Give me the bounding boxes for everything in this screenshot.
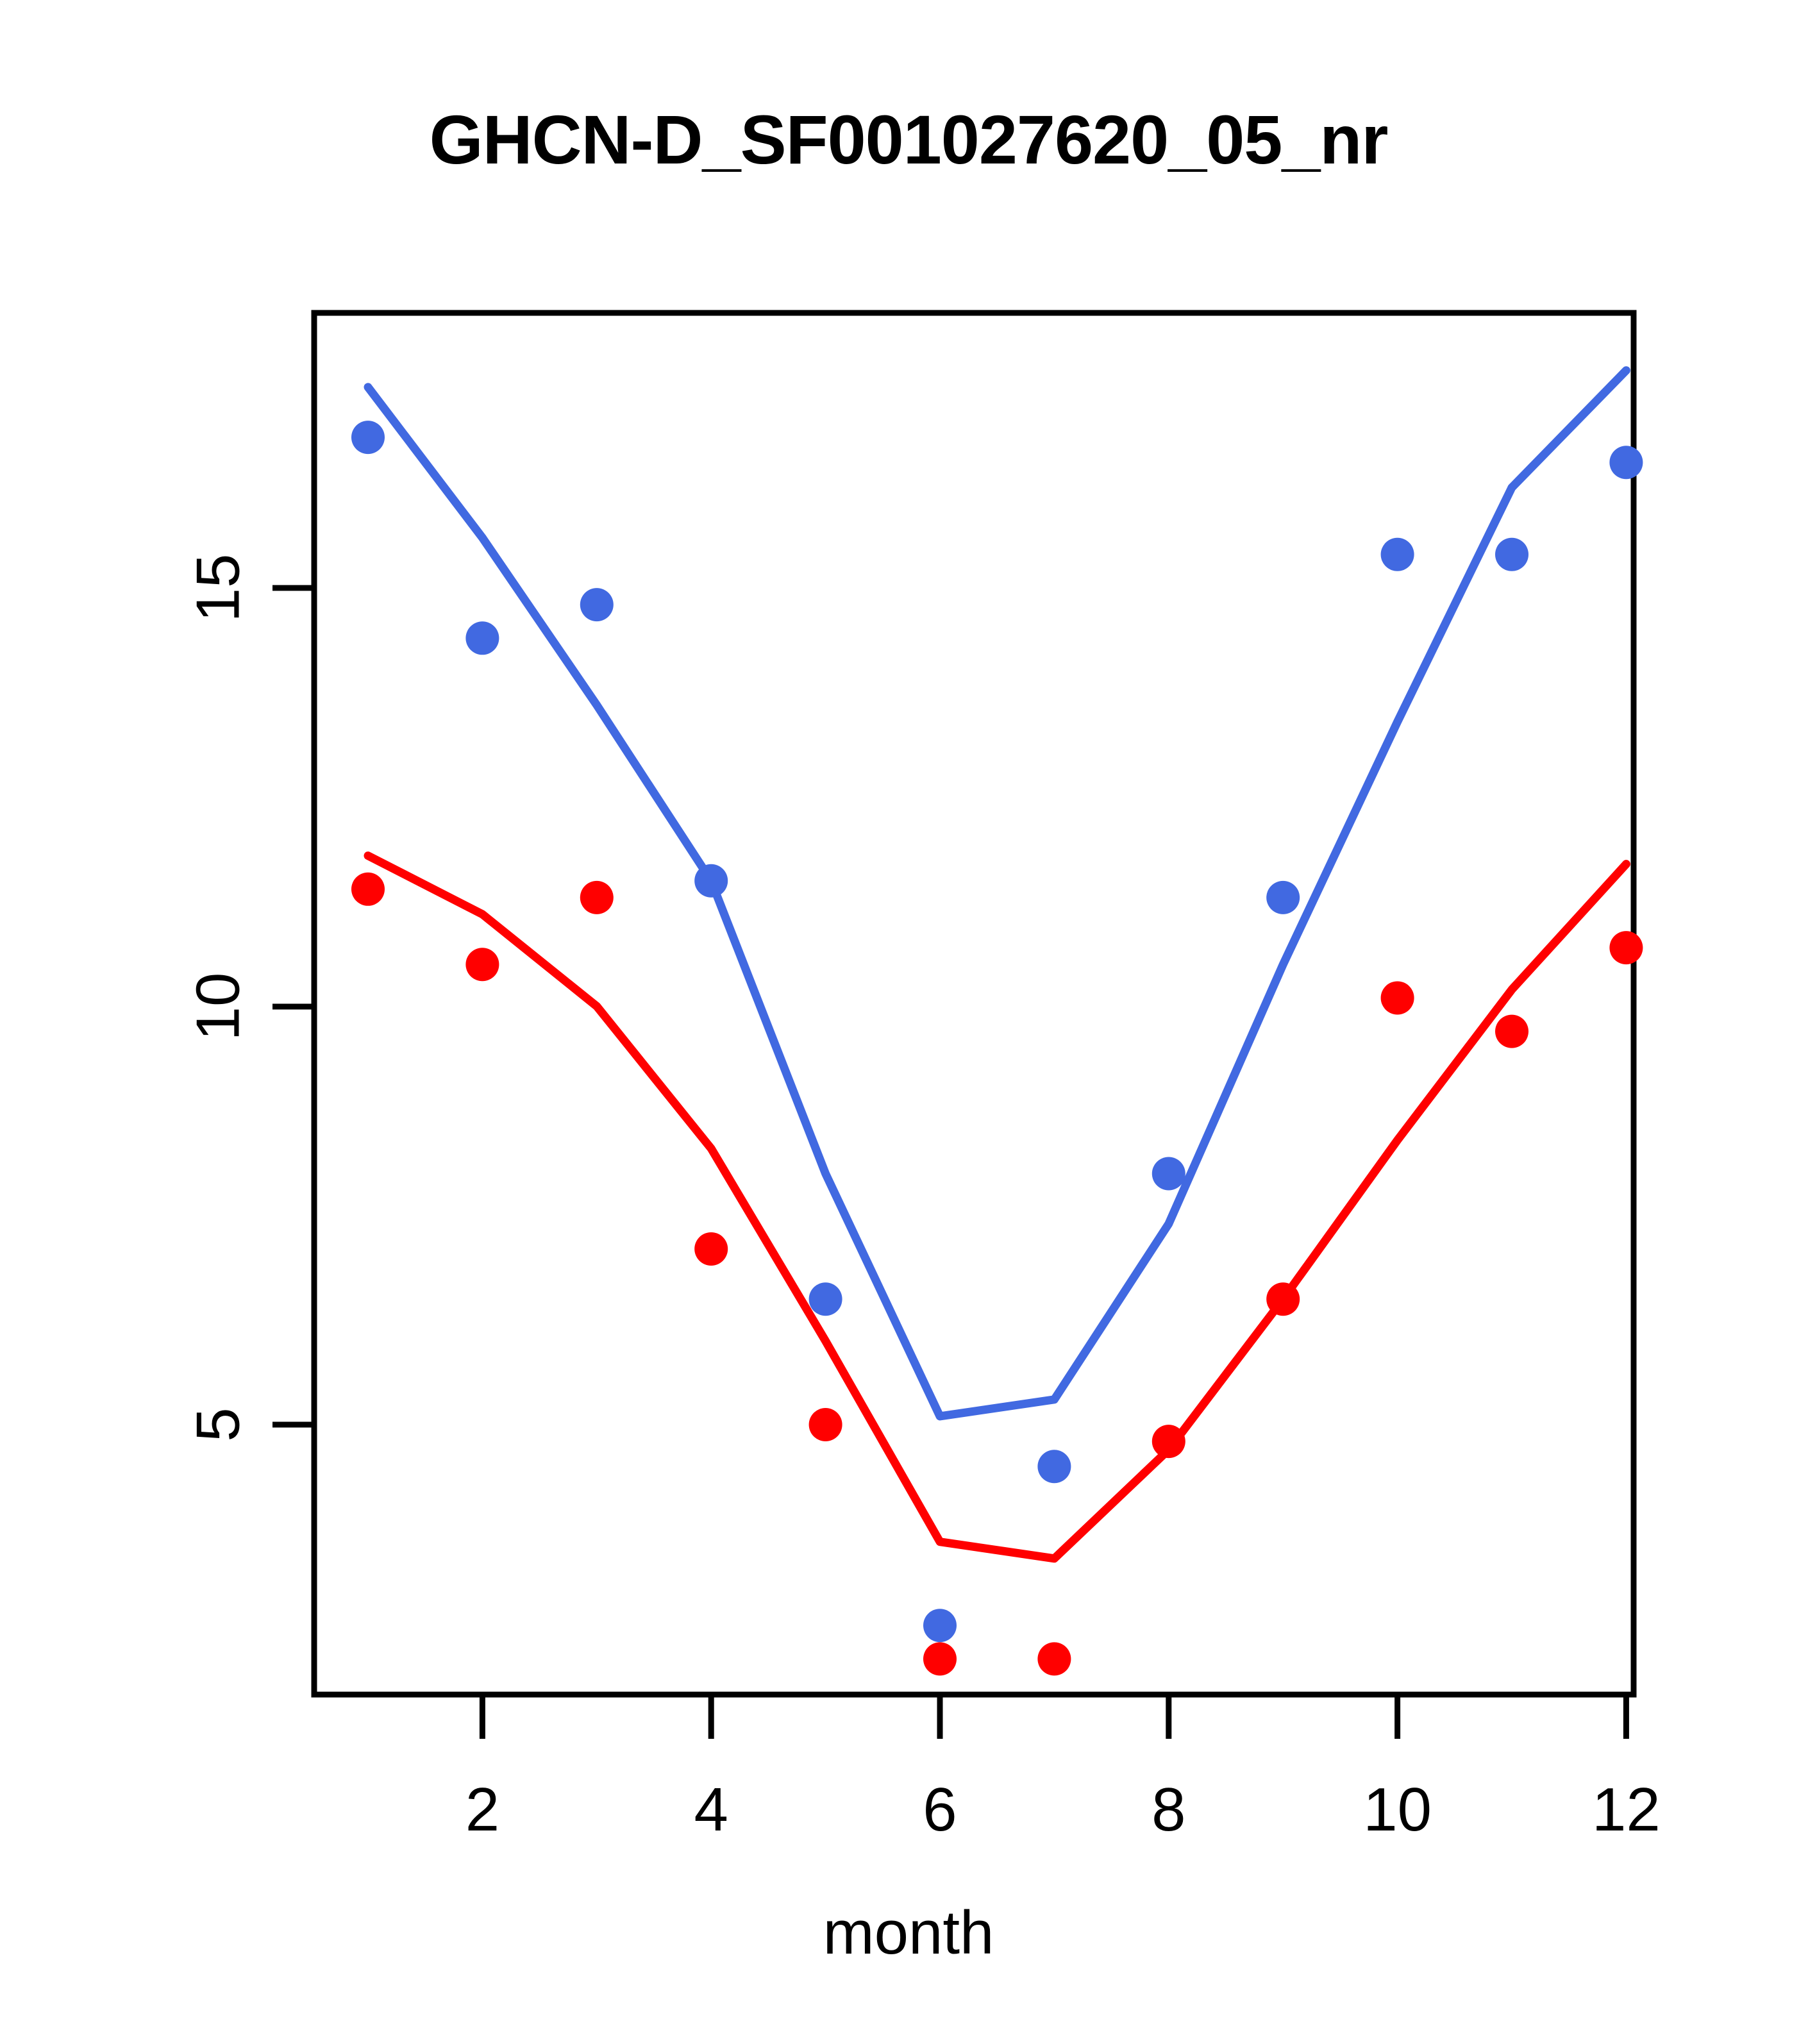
blue-line: [368, 371, 1626, 1416]
red-points-marker: [351, 873, 385, 906]
blue-points-marker: [809, 1282, 842, 1316]
x-tick-label-4: 4: [694, 1775, 728, 1844]
blue-points-marker: [694, 864, 728, 898]
x-tick-label-2: 2: [465, 1775, 499, 1844]
x-axis-label: month: [0, 1898, 1817, 1968]
plot-border: [314, 313, 1634, 1695]
red-points-marker: [1495, 1015, 1528, 1048]
x-axis-ticks: [482, 1695, 1626, 1739]
red-points-marker: [465, 948, 499, 981]
chart-figure: GHCN-D_SF001027620_05_nr 15 10 5 2468101…: [0, 0, 1817, 2044]
x-tick-label-12: 12: [1592, 1775, 1661, 1844]
blue-points-marker: [580, 588, 614, 621]
x-axis-tick-labels: 24681012: [465, 1775, 1661, 1844]
series-lines: [368, 371, 1626, 1559]
blue-points-marker: [351, 421, 385, 454]
x-tick-label-8: 8: [1151, 1775, 1185, 1844]
red-points-marker: [1266, 1282, 1300, 1316]
red-points-marker: [923, 1642, 957, 1675]
blue-points-marker: [1152, 1157, 1185, 1191]
red-points-marker: [809, 1408, 842, 1441]
plot-area: 15 10 5 24681012: [0, 0, 1817, 2044]
blue-points-marker: [1609, 446, 1643, 479]
red-points-marker: [580, 881, 614, 914]
y-tick-label-5: 5: [184, 1407, 253, 1441]
blue-points-marker: [923, 1609, 957, 1642]
x-tick-label-6: 6: [923, 1775, 957, 1844]
y-tick-label-15: 15: [184, 554, 253, 623]
y-tick-label-10: 10: [184, 973, 253, 1041]
x-tick-label-10: 10: [1363, 1775, 1432, 1844]
blue-points-marker: [465, 621, 499, 655]
red-points-marker: [1037, 1642, 1071, 1675]
blue-points-marker: [1495, 538, 1528, 571]
blue-points-marker: [1266, 881, 1300, 914]
red-points-marker: [1609, 931, 1643, 964]
y-axis-ticks: [272, 588, 314, 1425]
red-points-marker: [694, 1232, 728, 1266]
red-points-marker: [1152, 1425, 1185, 1458]
red-points-marker: [1381, 981, 1414, 1014]
blue-points-marker: [1037, 1450, 1071, 1483]
blue-points-marker: [1381, 538, 1414, 571]
y-axis-tick-labels: 15 10 5: [184, 554, 253, 1442]
red-line: [368, 856, 1626, 1559]
